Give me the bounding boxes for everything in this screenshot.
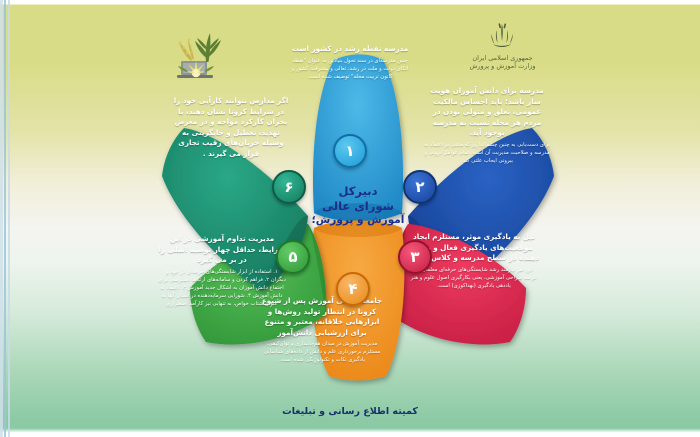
petal-2-number-label: ۲	[415, 178, 424, 196]
petal-2-number[interactable]: ۲	[403, 170, 437, 204]
footer-bar: کمیته اطلاع رسانی و تبلیغات	[0, 398, 700, 424]
petal-4-number-label: ۴	[348, 280, 357, 298]
petal-4-number[interactable]: ۴	[336, 272, 370, 306]
petal-3-number[interactable]: ۳	[398, 240, 432, 274]
petal-1-number-label: ۱	[345, 142, 354, 160]
petal-3-number-label: ۳	[410, 248, 419, 266]
petal-5-number[interactable]: ۵	[276, 240, 310, 274]
petal-6-number-label: ۶	[284, 178, 293, 196]
left-edge-strip-1	[0, 0, 3, 437]
petal-1-number[interactable]: ۱	[333, 134, 367, 168]
petal-6-number[interactable]: ۶	[272, 170, 306, 204]
six-petal-diagram	[118, 28, 588, 388]
infographic-poster: جمهوری اسلامی ایران وزارت آموزش و پرورش	[0, 0, 700, 437]
left-edge-strip-2	[4, 0, 6, 437]
petal-5-number-label: ۵	[288, 248, 297, 266]
footer-credit: کمیته اطلاع رسانی و تبلیغات	[282, 406, 418, 417]
left-edge-strip-3	[8, 0, 10, 437]
petals-svg	[118, 28, 588, 388]
